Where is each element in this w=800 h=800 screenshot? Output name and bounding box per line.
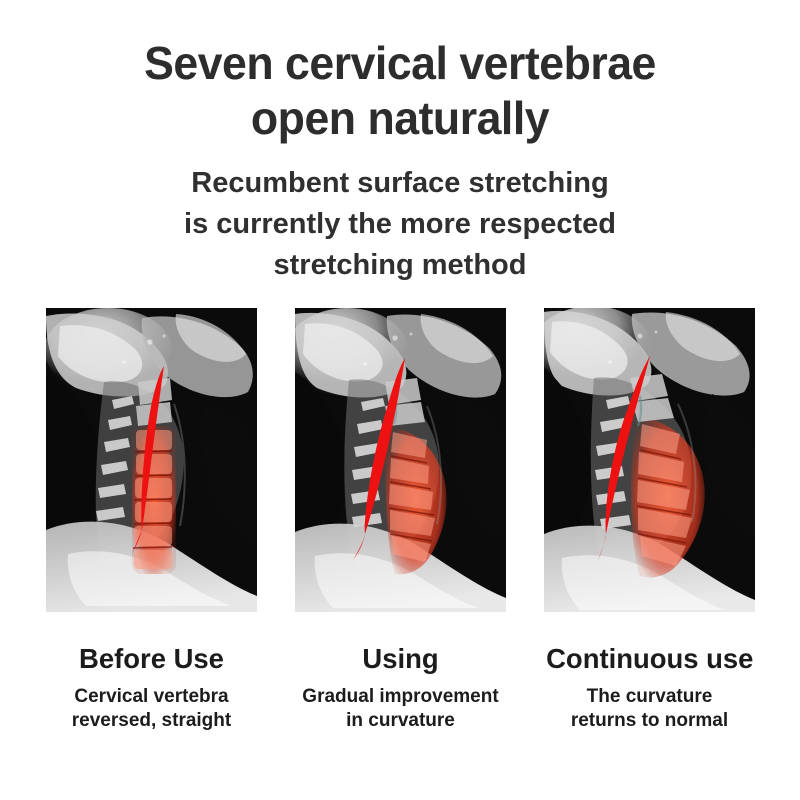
caption-title-using: Using [297,642,504,676]
caption-title-continuous: Continuous use [546,642,753,676]
cervical-spine-xray-continuous-image [544,308,755,612]
xray-panel-continuous [544,308,755,612]
xray-panel-before [46,308,257,612]
caption-desc-before-line-1: Cervical vertebra [46,685,257,709]
infographic-page: Seven cervical vertebrae open naturally … [0,0,800,800]
headline-line-2: open naturally [12,91,788,146]
caption-desc-continuous-line-1: The curvature [544,685,755,709]
headline-line-1: Seven cervical vertebrae [12,36,788,91]
caption-desc-using: Gradual improvement in curvature [295,685,506,733]
caption-desc-continuous-line-2: returns to normal [544,709,755,733]
caption-desc-before: Cervical vertebra reversed, straight [46,685,257,733]
subtitle-line-3: stretching method [0,245,800,286]
caption-desc-before-line-2: reversed, straight [46,709,257,733]
page-subtitle: Recumbent surface stretching is currentl… [0,163,800,286]
page-title: Seven cervical vertebrae open naturally [12,36,788,146]
cervical-spine-xray-using-image [295,308,506,612]
xray-panel-using [295,308,506,612]
xray-panel-row [46,308,755,612]
caption-title-before: Before Use [48,642,255,676]
subtitle-line-2: is currently the more respected [0,204,800,245]
caption-desc-using-line-1: Gradual improvement [295,685,506,709]
caption-desc-continuous: The curvature returns to normal [544,685,755,733]
caption-row: Before Use Cervical vertebra reversed, s… [46,642,755,733]
subtitle-line-1: Recumbent surface stretching [0,163,800,204]
caption-before: Before Use Cervical vertebra reversed, s… [46,642,257,733]
caption-continuous: Continuous use The curvature returns to … [544,642,755,733]
cervical-spine-xray-before-image [46,308,257,612]
caption-using: Using Gradual improvement in curvature [295,642,506,733]
caption-desc-using-line-2: in curvature [295,709,506,733]
